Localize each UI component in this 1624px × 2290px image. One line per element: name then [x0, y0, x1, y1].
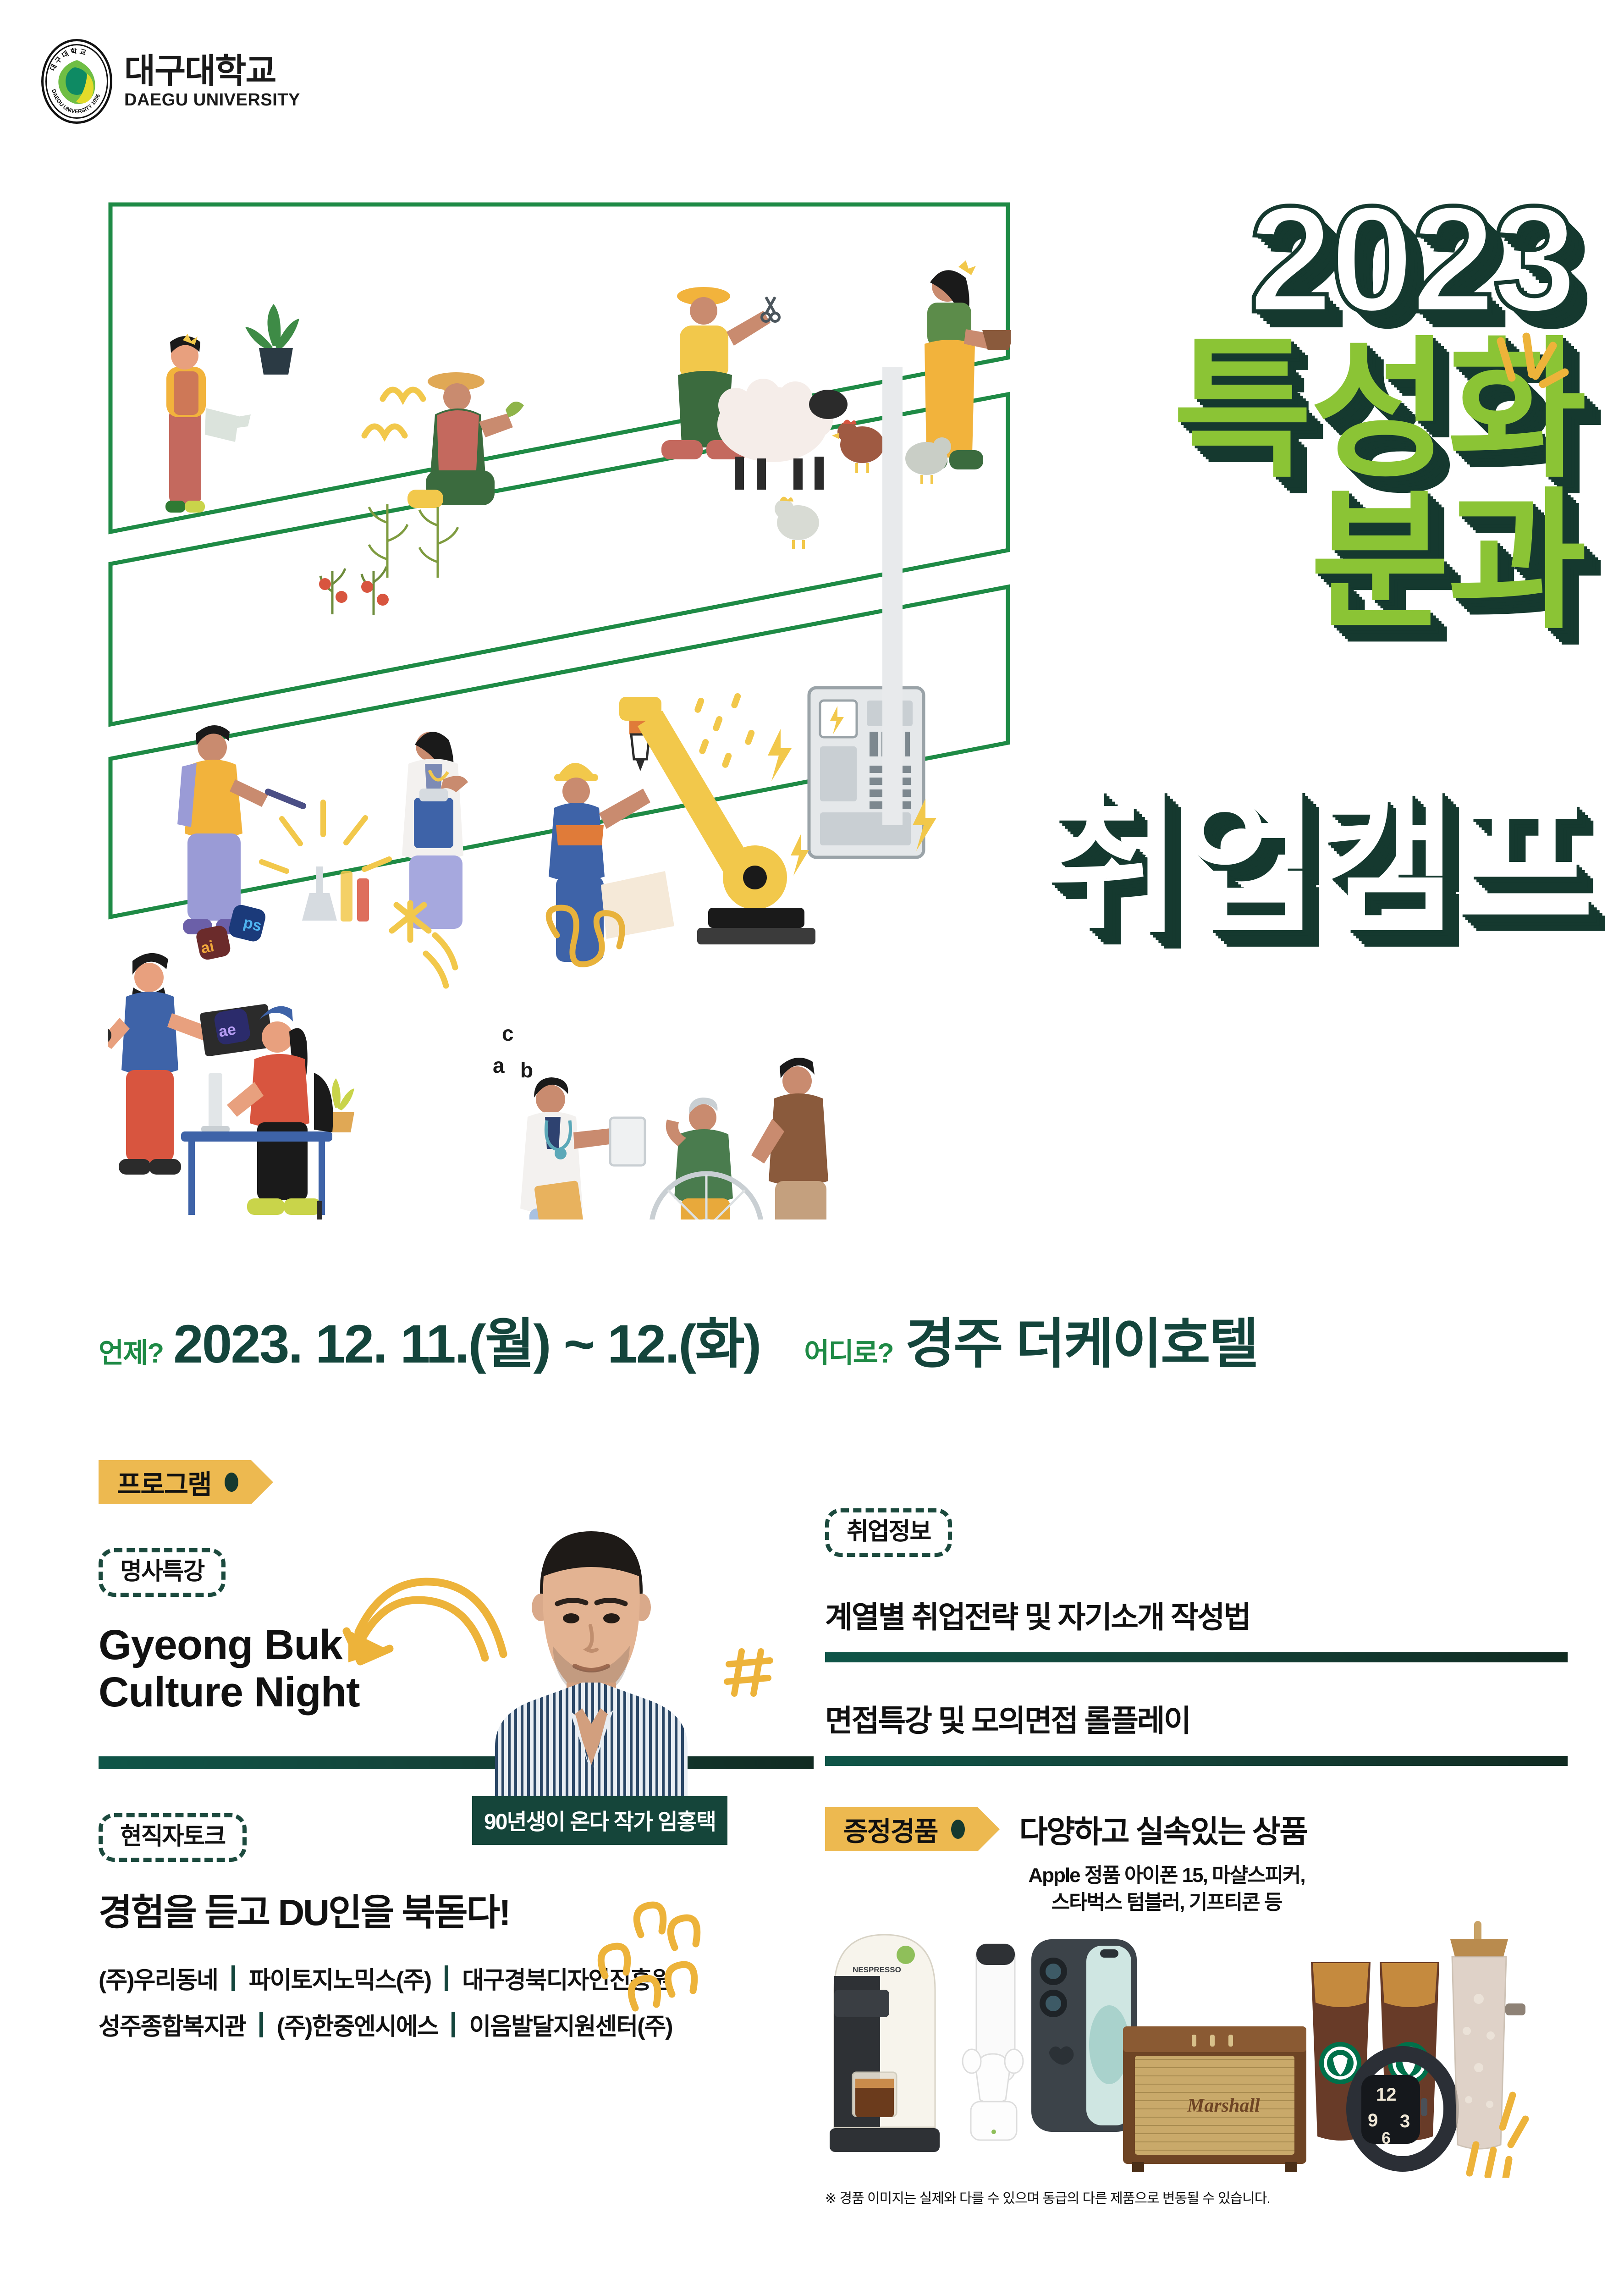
job-info-divider-bar	[825, 1756, 1568, 1766]
logo-wordmark: 대구대학교 DAEGU UNIVERSITY	[124, 54, 300, 109]
prize-subtitle-line2: 스타벅스 텀블러, 기프티콘 등	[926, 1889, 1407, 1916]
talk-badge: 현직자토크	[99, 1813, 247, 1862]
program-tag: 프로그램	[99, 1460, 251, 1504]
program-tag-label: 프로그램	[117, 1463, 211, 1501]
sparkle-icon	[1484, 330, 1576, 422]
where-label: 어디로?	[804, 1331, 893, 1371]
poster-title: 2023 특성화 분과	[934, 183, 1585, 637]
speaker-portrait	[463, 1508, 720, 1843]
svg-text:NESPRESSO: NESPRESSO	[853, 1965, 901, 1974]
partner-item: 성주종합복지관	[99, 2007, 246, 2042]
prize-subtitle-line1: Apple 정품 아이폰 15, 마샬스피커,	[926, 1862, 1407, 1889]
prize-tag-label: 증정경품	[843, 1810, 937, 1849]
tag-dot-icon	[225, 1473, 238, 1492]
svg-text:ae: ae	[217, 1021, 237, 1041]
svg-text:3: 3	[1400, 2111, 1410, 2131]
keynote-speaker-photo: 90년생이 온다 작가 임홍택	[463, 1508, 720, 1843]
svg-text:c: c	[502, 1021, 514, 1045]
prize-disclaimer: ※ 경품 이미지는 실제와 다를 수 있으며 동급의 다른 제품으로 변동될 수…	[825, 2187, 1568, 2207]
illustration-band: ai ps ae	[108, 202, 1011, 1219]
svg-text:대 구 대 학 교: 대 구 대 학 교	[49, 47, 87, 72]
svg-text:DAEGU UNIVERSITY 1956: DAEGU UNIVERSITY 1956	[50, 88, 102, 115]
partner-separator	[445, 1965, 448, 1991]
university-logo: 대 구 대 학 교 DAEGU UNIVERSITY 1956 대구대학교 DA…	[41, 39, 300, 124]
university-seal-icon: 대 구 대 학 교 DAEGU UNIVERSITY 1956	[41, 39, 112, 124]
logo-korean-name: 대구대학교	[124, 54, 300, 88]
prize-title: 다양하고 실속있는 상품	[1019, 1806, 1306, 1852]
partner-item: 파이토지노믹스(주)	[249, 1961, 431, 1995]
job-info-badge: 취업정보	[825, 1508, 952, 1557]
speaker-caption: 90년생이 온다 작가 임홍택	[472, 1796, 727, 1845]
partner-item: (주)우리동네	[99, 1961, 218, 1995]
marshall-speaker-image: Marshall	[1123, 2026, 1306, 2172]
svg-text:a: a	[493, 1054, 505, 1077]
partner-separator	[231, 1965, 235, 1991]
when-label: 언제?	[99, 1331, 163, 1371]
poster-root: 대 구 대 학 교 DAEGU UNIVERSITY 1956 대구대학교 DA…	[0, 0, 1624, 2290]
title-line3: 취업캠프	[1043, 743, 1592, 962]
svg-text:6: 6	[1382, 2129, 1391, 2147]
when-value: 2023. 12. 11.(월) ~ 12.(화)	[173, 1300, 760, 1378]
airpods-image	[963, 1944, 1023, 2140]
job-info-item: 면접특강 및 모의면접 롤플레이	[825, 1696, 1568, 1740]
partner-separator	[259, 2012, 263, 2037]
prize-subtitle: Apple 정품 아이폰 15, 마샬스피커, 스타벅스 텀블러, 기프티콘 등	[926, 1862, 1407, 1916]
job-info-column: 취업정보 계열별 취업전략 및 자기소개 작성법 면접특강 및 모의면접 롤플레…	[825, 1508, 1568, 2207]
event-datetime-line: 언제? 2023. 12. 11.(월) ~ 12.(화) 어디로? 경주 더케…	[99, 1300, 1556, 1378]
job-info-item: 계열별 취업전략 및 자기소개 작성법	[825, 1593, 1568, 1637]
tag-dot-icon	[951, 1820, 965, 1839]
title-year: 2023	[1249, 174, 1574, 343]
iphone-image	[1031, 1939, 1137, 2132]
prize-product-images: NESPRESSO	[825, 1921, 1540, 2178]
prize-header: 증정경품 다양하고 실속있는 상품	[825, 1806, 1568, 1852]
keynote-badge: 명사특강	[99, 1548, 226, 1597]
coffee-machine-image: NESPRESSO	[830, 1935, 940, 2152]
partner-item: (주)한중엔시에스	[277, 2007, 438, 2042]
tumbler-image	[1450, 1921, 1525, 2149]
curved-arrow-icon	[316, 1563, 509, 1673]
svg-text:9: 9	[1368, 2110, 1378, 2130]
svg-text:Marshall: Marshall	[1187, 2095, 1260, 2116]
zzz-doodle-icon	[591, 1889, 729, 2026]
partner-separator	[451, 2012, 455, 2037]
hash-icon	[724, 1646, 779, 1701]
svg-text:b: b	[520, 1058, 533, 1082]
where-value: 경주 더케이호텔	[905, 1300, 1258, 1378]
prize-tag: 증정경품	[825, 1807, 978, 1851]
job-info-divider-bar	[825, 1652, 1568, 1662]
logo-english-name: DAEGU UNIVERSITY	[124, 91, 300, 109]
title-line2: 분과	[1310, 477, 1585, 646]
svg-text:12: 12	[1376, 2085, 1397, 2105]
